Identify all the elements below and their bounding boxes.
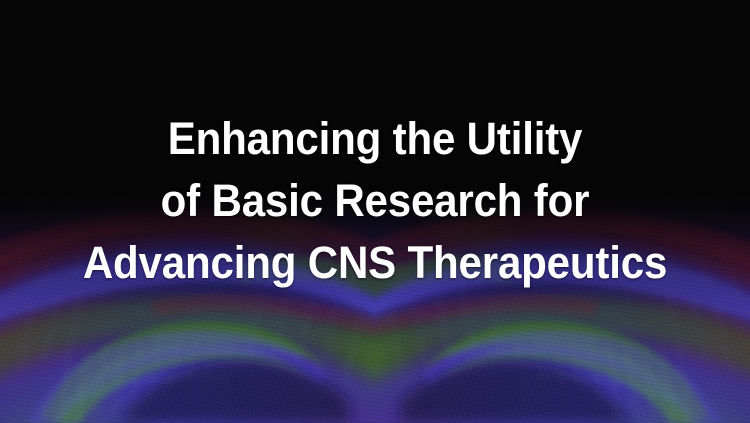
title-slide: Enhancing the Utility of Basic Research …	[0, 0, 750, 423]
title-line-1: Enhancing the Utility	[24, 108, 725, 170]
title-line-2: of Basic Research for	[24, 170, 725, 232]
title-line-3: Advancing CNS Therapeutics	[24, 232, 725, 294]
slide-title: Enhancing the Utility of Basic Research …	[0, 108, 750, 294]
